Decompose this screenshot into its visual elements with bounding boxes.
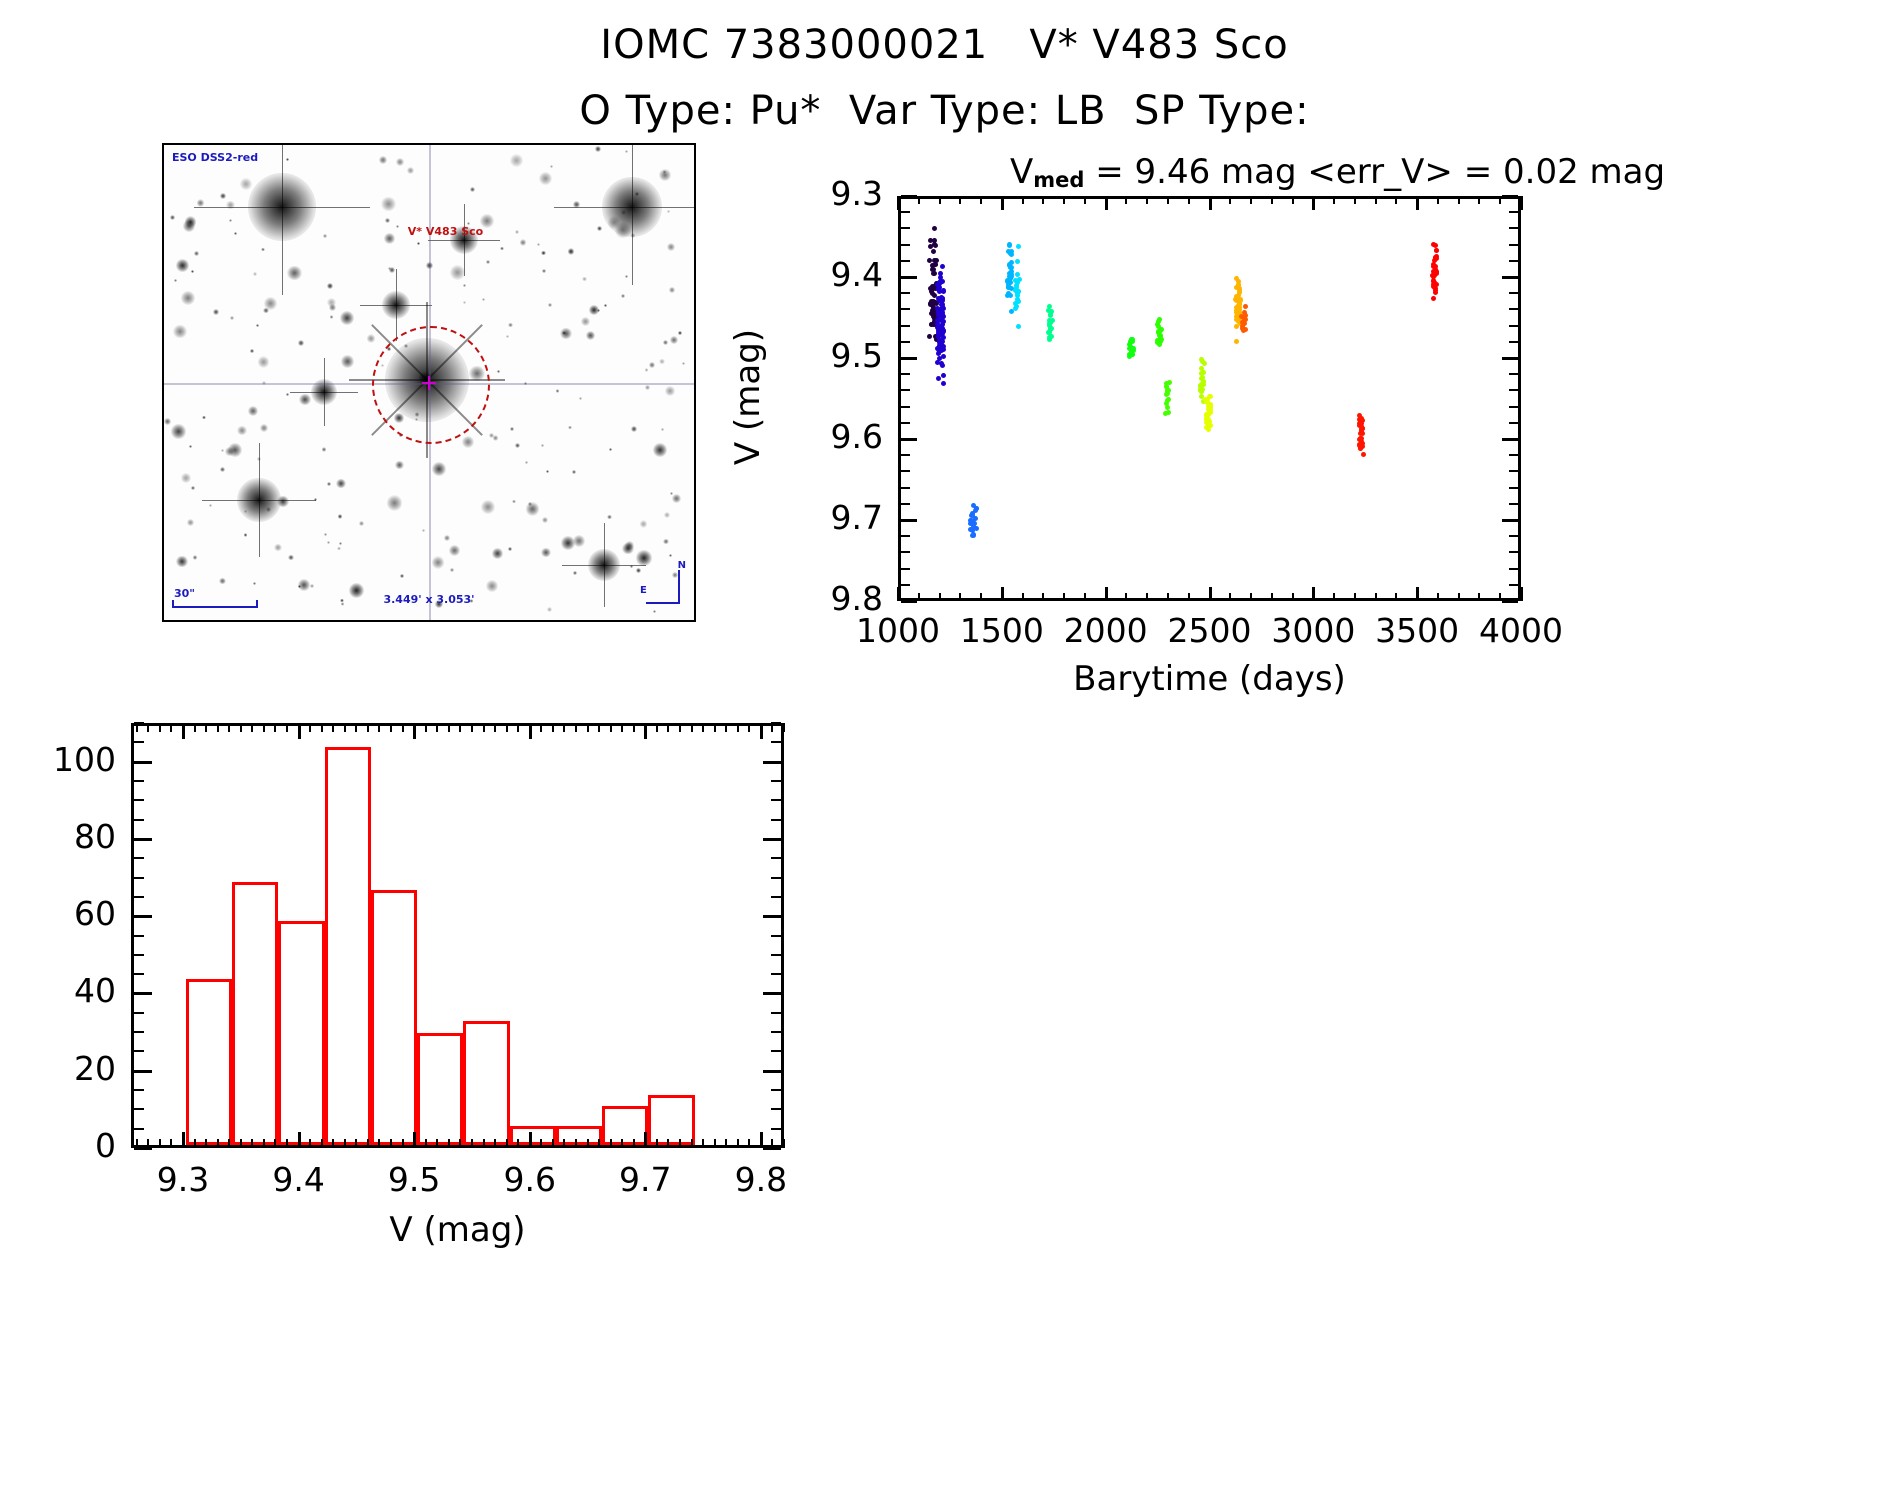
axis-tick bbox=[1509, 470, 1518, 472]
field-star bbox=[197, 199, 204, 206]
axis-tick bbox=[1105, 196, 1108, 210]
axis-tick-label: 1500 bbox=[942, 611, 1062, 650]
axis-tick bbox=[217, 723, 219, 732]
axis-tick bbox=[134, 1012, 144, 1014]
axis-tick bbox=[134, 1070, 152, 1073]
field-star bbox=[341, 355, 354, 368]
field-star bbox=[508, 547, 512, 551]
axis-tick bbox=[274, 723, 276, 732]
axis-tick bbox=[771, 973, 781, 975]
axis-tick bbox=[1167, 593, 1169, 601]
field-star bbox=[640, 520, 648, 528]
axis-tick bbox=[633, 723, 635, 732]
axis-tick bbox=[644, 1132, 647, 1148]
axis-tick bbox=[459, 1139, 461, 1148]
axis-tick-label: 100 bbox=[0, 740, 116, 779]
field-star bbox=[234, 232, 237, 235]
field-star bbox=[248, 406, 258, 416]
light-curve-point bbox=[1128, 345, 1133, 350]
axis-tick bbox=[748, 1139, 750, 1148]
axis-tick bbox=[771, 954, 781, 956]
axis-tick bbox=[1084, 593, 1086, 601]
axis-tick bbox=[425, 1139, 427, 1148]
axis-tick bbox=[1416, 196, 1419, 210]
magnitude-histogram-plot[interactable] bbox=[131, 723, 784, 1148]
axis-tick bbox=[1509, 373, 1518, 375]
field-star bbox=[220, 193, 226, 199]
axis-tick bbox=[134, 954, 144, 956]
axis-tick bbox=[1271, 196, 1273, 204]
axis-tick bbox=[1509, 325, 1518, 327]
axis-tick bbox=[332, 1139, 334, 1148]
field-star bbox=[264, 297, 278, 311]
axis-tick bbox=[136, 723, 138, 732]
axis-tick bbox=[506, 1139, 508, 1148]
axis-tick bbox=[691, 723, 693, 732]
axis-tick bbox=[1125, 196, 1127, 204]
axis-tick bbox=[1502, 357, 1518, 360]
field-star bbox=[193, 555, 197, 559]
axis-tick-label: 2500 bbox=[1150, 611, 1270, 650]
axis-tick bbox=[901, 195, 917, 198]
axis-tick bbox=[598, 1139, 600, 1148]
axis-tick bbox=[413, 1132, 416, 1148]
axis-tick bbox=[471, 723, 473, 732]
field-star bbox=[568, 248, 574, 254]
field-star bbox=[407, 167, 414, 174]
field-star bbox=[176, 259, 189, 272]
diffraction-spike bbox=[282, 143, 283, 295]
axis-tick bbox=[159, 723, 161, 732]
light-curve-point bbox=[1208, 394, 1213, 399]
field-star bbox=[508, 323, 512, 327]
light-curve-point bbox=[1431, 284, 1436, 289]
light-curve-point bbox=[1243, 317, 1248, 322]
axis-tick bbox=[959, 593, 961, 601]
axis-tick bbox=[1001, 587, 1004, 601]
axis-tick bbox=[610, 723, 612, 732]
axis-tick bbox=[771, 896, 781, 898]
compass-north-label: N bbox=[678, 560, 686, 571]
field-star bbox=[240, 178, 252, 190]
light-curve-point bbox=[1013, 306, 1018, 311]
axis-tick bbox=[552, 723, 554, 732]
field-star bbox=[337, 547, 340, 550]
axis-tick bbox=[901, 357, 917, 360]
field-star bbox=[659, 359, 664, 364]
field-star bbox=[340, 599, 343, 602]
field-star bbox=[327, 482, 331, 486]
axis-tick bbox=[901, 227, 910, 229]
light-curve-point bbox=[1015, 272, 1020, 277]
field-star bbox=[512, 500, 516, 504]
field-star bbox=[622, 543, 634, 555]
histogram-bar bbox=[648, 1095, 694, 1145]
axis-tick bbox=[367, 723, 369, 732]
light-curve-point bbox=[941, 373, 946, 378]
field-star bbox=[191, 486, 195, 490]
axis-tick-label: 3000 bbox=[1253, 611, 1373, 650]
light-curve-point bbox=[1009, 269, 1014, 274]
field-star bbox=[649, 362, 655, 368]
axis-tick bbox=[897, 196, 900, 210]
axis-tick bbox=[217, 1139, 219, 1148]
axis-tick bbox=[959, 196, 961, 204]
light-curve-points-layer bbox=[901, 199, 1518, 598]
axis-tick-label: 9.3 bbox=[773, 174, 883, 213]
light-curve-point bbox=[1165, 405, 1170, 410]
field-star bbox=[481, 500, 495, 514]
axis-tick bbox=[425, 723, 427, 732]
field-star bbox=[244, 533, 247, 536]
light-curve-point bbox=[1015, 259, 1020, 264]
axis-tick bbox=[402, 723, 404, 732]
light-curve-point bbox=[1016, 324, 1021, 329]
axis-tick bbox=[529, 1132, 532, 1148]
field-star bbox=[470, 187, 475, 192]
light-curve-point bbox=[939, 361, 944, 366]
photometry-stats-line: Vmed = 9.46 mag <err_V> = 0.02 mag bbox=[1010, 152, 1630, 192]
axis-tick bbox=[540, 723, 542, 732]
light-curve-point bbox=[939, 295, 944, 300]
field-star bbox=[669, 287, 675, 293]
field-star bbox=[493, 435, 499, 441]
field-star bbox=[482, 298, 485, 301]
field-star bbox=[526, 502, 540, 516]
field-star bbox=[173, 325, 186, 338]
axis-tick bbox=[563, 723, 565, 732]
axis-tick bbox=[1416, 587, 1419, 601]
light-curve-point bbox=[1234, 339, 1239, 344]
field-star bbox=[667, 210, 670, 213]
light-curve-point bbox=[1048, 327, 1053, 332]
field-star bbox=[670, 336, 678, 344]
field-star bbox=[349, 583, 365, 599]
axis-tick bbox=[182, 723, 185, 739]
axis-tick bbox=[598, 723, 600, 732]
light-curve-point bbox=[937, 349, 942, 354]
axis-tick bbox=[1229, 196, 1231, 204]
axis-tick bbox=[134, 761, 152, 764]
axis-tick bbox=[1042, 196, 1044, 204]
axis-tick bbox=[1146, 593, 1148, 601]
axis-tick bbox=[1509, 406, 1518, 408]
axis-tick bbox=[901, 292, 910, 294]
field-star bbox=[400, 574, 404, 578]
axis-tick bbox=[901, 276, 917, 279]
diffraction-spike bbox=[194, 207, 371, 208]
axis-tick bbox=[1312, 196, 1315, 210]
field-star bbox=[463, 301, 466, 304]
field-star bbox=[384, 233, 395, 244]
light-curve-point bbox=[940, 264, 945, 269]
light-curve-point bbox=[1361, 452, 1366, 457]
field-star bbox=[220, 467, 225, 472]
field-star bbox=[417, 242, 420, 245]
axis-tick bbox=[1292, 593, 1294, 601]
axis-tick bbox=[494, 723, 496, 732]
field-star bbox=[568, 426, 571, 429]
axis-tick bbox=[667, 723, 669, 732]
axis-tick bbox=[771, 1050, 781, 1052]
axis-tick bbox=[939, 196, 941, 204]
axis-tick bbox=[182, 1132, 185, 1148]
diffraction-spike bbox=[554, 207, 696, 208]
light-curve-point bbox=[932, 226, 937, 231]
field-star bbox=[586, 331, 595, 340]
axis-tick-label: 9.7 bbox=[773, 498, 883, 537]
field-star bbox=[556, 389, 560, 393]
axis-tick bbox=[147, 723, 149, 732]
light-curve-point bbox=[1206, 427, 1211, 432]
axis-tick bbox=[1509, 389, 1518, 391]
axis-tick bbox=[763, 915, 781, 918]
axis-tick bbox=[552, 1139, 554, 1148]
axis-tick bbox=[1509, 584, 1518, 586]
axis-tick-label: 60 bbox=[0, 894, 116, 933]
axis-tick bbox=[1333, 593, 1335, 601]
axis-tick bbox=[1125, 593, 1127, 601]
field-star bbox=[541, 444, 544, 447]
axis-tick bbox=[1188, 196, 1190, 204]
axis-tick bbox=[1375, 593, 1377, 601]
axis-tick bbox=[170, 1139, 172, 1148]
axis-tick bbox=[901, 373, 910, 375]
field-star bbox=[256, 324, 259, 327]
axis-tick bbox=[1167, 196, 1169, 204]
axis-tick bbox=[771, 723, 773, 732]
axis-tick bbox=[1509, 292, 1518, 294]
field-star bbox=[515, 230, 519, 234]
axis-tick bbox=[1188, 593, 1190, 601]
axis-tick-label: 9.5 bbox=[354, 1160, 474, 1199]
axis-tick bbox=[763, 1070, 781, 1073]
axis-tick bbox=[771, 819, 781, 821]
axis-tick bbox=[134, 973, 144, 975]
axis-tick bbox=[1509, 341, 1518, 343]
axis-tick-label: 9.4 bbox=[773, 255, 883, 294]
light-curve-point bbox=[933, 262, 938, 267]
axis-tick bbox=[355, 1139, 357, 1148]
field-star bbox=[645, 385, 649, 389]
axis-tick bbox=[901, 568, 910, 570]
axis-tick bbox=[134, 741, 144, 743]
light-curve-point bbox=[1238, 298, 1243, 303]
field-star bbox=[432, 556, 444, 568]
axis-tick bbox=[897, 587, 900, 601]
axis-tick bbox=[1509, 568, 1518, 570]
axis-tick bbox=[1395, 593, 1397, 601]
axis-tick bbox=[901, 389, 910, 391]
light-curve-plot[interactable] bbox=[898, 196, 1521, 601]
field-star bbox=[672, 494, 681, 503]
axis-tick bbox=[1509, 211, 1518, 213]
target-name-label: V* V483 Sco bbox=[408, 225, 483, 238]
light-curve-point bbox=[1127, 352, 1132, 357]
axis-tick bbox=[771, 935, 781, 937]
finder-chart[interactable]: V* V483 Sco ESO DSS2-red 30" 3.449' x 3.… bbox=[162, 143, 696, 622]
light-curve-point bbox=[971, 533, 976, 538]
field-star bbox=[581, 317, 591, 327]
axis-tick bbox=[1520, 196, 1523, 210]
histogram-bar bbox=[417, 1033, 463, 1145]
axis-tick bbox=[1250, 196, 1252, 204]
field-star bbox=[621, 294, 625, 298]
axis-tick-label: 9.5 bbox=[773, 336, 883, 375]
axis-tick-label: 80 bbox=[0, 817, 116, 856]
histogram-bar bbox=[325, 747, 371, 1145]
light-curve-point bbox=[1166, 410, 1171, 415]
axis-tick-label: 9.4 bbox=[239, 1160, 359, 1199]
axis-tick bbox=[1209, 196, 1212, 210]
field-star bbox=[381, 197, 396, 212]
axis-tick bbox=[1478, 196, 1480, 204]
axis-tick bbox=[134, 935, 144, 937]
axis-tick-label: 9.6 bbox=[773, 417, 883, 456]
axis-tick bbox=[321, 1139, 323, 1148]
axis-tick bbox=[134, 915, 152, 918]
field-star bbox=[396, 158, 405, 167]
axis-tick bbox=[228, 1139, 230, 1148]
light-curve-point bbox=[1433, 290, 1438, 295]
histogram-y-axis-title: N bbox=[0, 784, 1, 1084]
field-star bbox=[387, 495, 402, 510]
axis-tick bbox=[725, 723, 727, 732]
axis-tick bbox=[332, 723, 334, 732]
field-star bbox=[597, 226, 602, 231]
axis-tick bbox=[939, 593, 941, 601]
axis-tick bbox=[1509, 227, 1518, 229]
field-star bbox=[492, 548, 502, 558]
axis-tick bbox=[134, 799, 144, 801]
light-curve-point bbox=[940, 304, 945, 309]
axis-tick-label: 9.8 bbox=[773, 579, 883, 618]
axis-tick bbox=[679, 1139, 681, 1148]
axis-tick bbox=[1499, 196, 1501, 204]
axis-tick-label: 4000 bbox=[1461, 611, 1581, 650]
axis-tick bbox=[134, 1147, 152, 1150]
page-title: IOMC 7383000021 V* V483 Sco bbox=[0, 22, 1889, 68]
field-star bbox=[664, 512, 670, 518]
axis-tick-label: 9.3 bbox=[123, 1160, 243, 1199]
axis-tick bbox=[901, 519, 917, 522]
axis-tick bbox=[205, 1139, 207, 1148]
axis-tick-label: 9.6 bbox=[470, 1160, 590, 1199]
axis-tick bbox=[483, 1139, 485, 1148]
axis-tick bbox=[1509, 260, 1518, 262]
axis-tick bbox=[448, 723, 450, 732]
axis-tick bbox=[134, 992, 152, 995]
histogram-bars-layer bbox=[134, 726, 781, 1145]
axis-tick bbox=[763, 761, 781, 764]
field-of-view-label: 3.449' x 3.053' bbox=[383, 593, 474, 606]
field-star bbox=[497, 370, 500, 373]
light-curve-point bbox=[1434, 248, 1439, 253]
axis-tick bbox=[344, 1139, 346, 1148]
light-curve-point bbox=[1358, 446, 1363, 451]
field-star bbox=[336, 479, 345, 488]
field-star bbox=[653, 443, 667, 457]
light-curve-point bbox=[936, 334, 941, 339]
axis-tick bbox=[771, 722, 781, 724]
axis-tick bbox=[517, 723, 519, 732]
field-star bbox=[625, 275, 628, 278]
axis-tick bbox=[901, 406, 910, 408]
axis-tick bbox=[263, 1139, 265, 1148]
axis-tick bbox=[228, 723, 230, 732]
axis-tick bbox=[134, 1089, 144, 1091]
axis-tick bbox=[901, 341, 910, 343]
axis-tick bbox=[286, 1139, 288, 1148]
axis-tick bbox=[901, 325, 910, 327]
axis-tick bbox=[1063, 196, 1065, 204]
axis-tick bbox=[251, 723, 253, 732]
light-curve-point bbox=[941, 344, 946, 349]
axis-tick bbox=[633, 1139, 635, 1148]
axis-tick-label: 3500 bbox=[1357, 611, 1477, 650]
axis-tick bbox=[1250, 593, 1252, 601]
axis-tick bbox=[748, 723, 750, 732]
axis-tick bbox=[1229, 593, 1231, 601]
light-curve-point bbox=[937, 289, 942, 294]
axis-tick bbox=[771, 1128, 781, 1130]
field-star bbox=[573, 535, 585, 547]
axis-tick bbox=[783, 723, 785, 732]
axis-tick bbox=[529, 723, 532, 739]
field-star bbox=[659, 169, 671, 181]
diffraction-spike bbox=[632, 143, 633, 285]
field-star bbox=[341, 602, 344, 605]
axis-tick bbox=[980, 196, 982, 204]
compass-rose: N E bbox=[642, 562, 686, 608]
axis-tick bbox=[170, 723, 172, 732]
field-star bbox=[562, 331, 566, 335]
field-star bbox=[209, 504, 212, 507]
field-star bbox=[176, 556, 187, 567]
light-curve-point bbox=[1199, 389, 1204, 394]
field-star bbox=[645, 368, 649, 372]
axis-tick bbox=[771, 1108, 781, 1110]
axis-tick bbox=[1312, 587, 1315, 601]
field-star bbox=[515, 443, 520, 448]
axis-tick bbox=[459, 723, 461, 732]
axis-tick bbox=[763, 992, 781, 995]
field-star bbox=[339, 542, 342, 545]
axis-tick bbox=[1333, 196, 1335, 204]
axis-tick bbox=[1022, 593, 1024, 601]
field-star bbox=[385, 218, 390, 223]
light-curve-point bbox=[935, 321, 940, 326]
axis-tick bbox=[413, 723, 416, 739]
field-star bbox=[253, 582, 256, 585]
field-star bbox=[327, 283, 333, 289]
axis-tick bbox=[575, 723, 577, 732]
axis-tick bbox=[1354, 593, 1356, 601]
light-curve-point bbox=[936, 376, 941, 381]
axis-tick bbox=[517, 1139, 519, 1148]
axis-tick bbox=[1502, 276, 1518, 279]
axis-tick bbox=[760, 723, 763, 739]
axis-tick bbox=[901, 244, 910, 246]
histogram-bar bbox=[463, 1021, 509, 1145]
axis-tick bbox=[1105, 587, 1108, 601]
axis-tick-label: 0 bbox=[0, 1126, 116, 1165]
field-star bbox=[250, 349, 253, 352]
field-star bbox=[520, 239, 526, 245]
histogram-bar bbox=[186, 979, 232, 1145]
axis-tick bbox=[506, 723, 508, 732]
field-star bbox=[194, 251, 199, 256]
